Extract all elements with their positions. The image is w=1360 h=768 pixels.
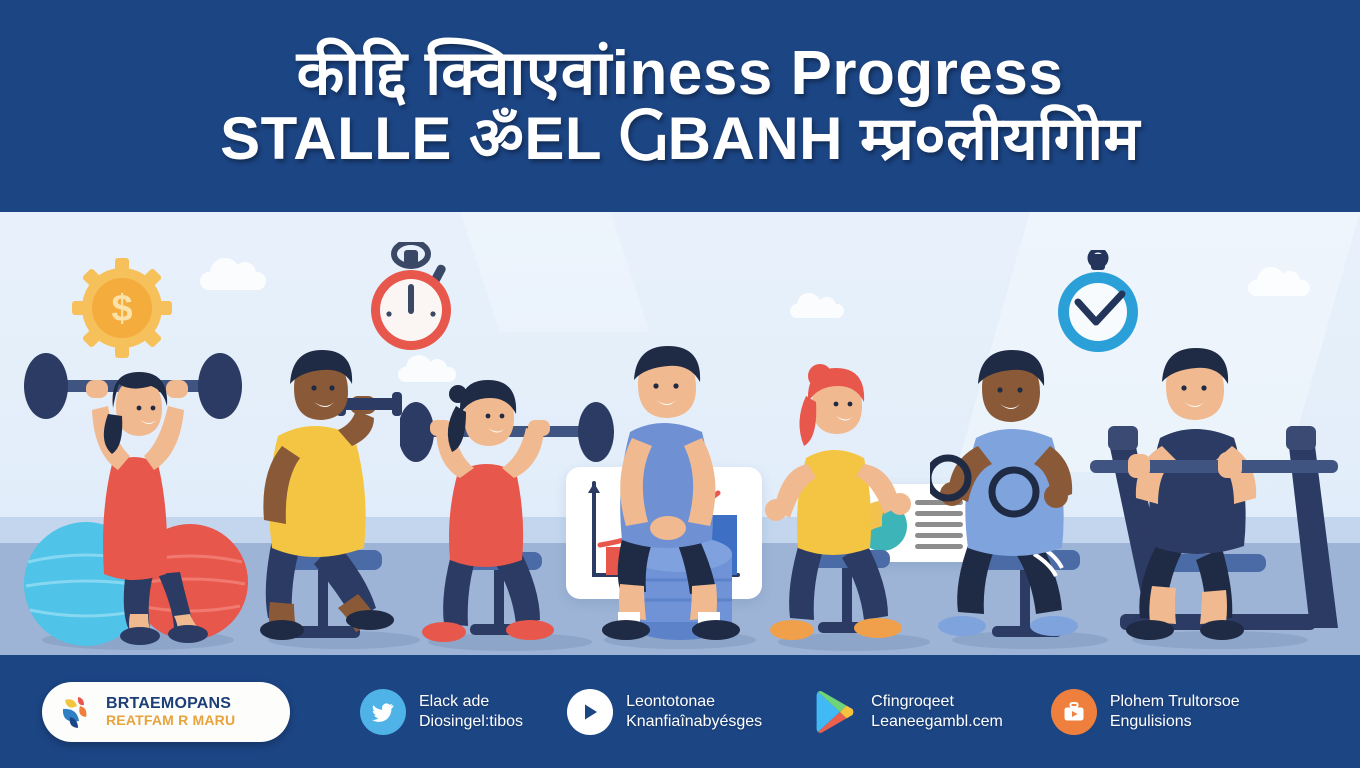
video-play-link-line-2: Knanfiaînabyésges: [626, 712, 762, 732]
app-store-link-line-2: Engulisions: [1110, 712, 1240, 732]
app-store-link[interactable]: Plohem Trultorsoe Engulisions: [1051, 689, 1240, 735]
twitter-bird-icon: [360, 689, 406, 735]
cloud-icon: [1248, 280, 1310, 296]
page-title-line-2: STALLE ॐEL ႺBANH म्प्र०लीयगोिम: [220, 108, 1140, 170]
brand-badge[interactable]: BRTAEMOPANS REATFAM R MARU: [42, 682, 290, 742]
twitter-link-line-1: Elack ade: [419, 692, 523, 712]
google-play-link[interactable]: Cfingroqeet Leaneegambl.cem: [812, 689, 1003, 735]
brand-badge-line-2: REATFAM R MARU: [106, 713, 235, 729]
video-play-link-line-1: Leontotonae: [626, 692, 762, 712]
cloud-icon: [790, 304, 844, 318]
gear-dollar-icon: $: [68, 254, 176, 362]
app-store-link-line-1: Plohem Trultorsoe: [1110, 692, 1240, 712]
barbell-bar: [1090, 460, 1338, 473]
orange-briefcase-icon: [1051, 689, 1097, 735]
svg-text:$: $: [111, 288, 132, 330]
header-banner: कीद्दि क्विाएवांiness Progress STALLE ॐE…: [0, 0, 1360, 212]
cloud-icon: [200, 272, 266, 290]
twitter-link[interactable]: Elack ade Diosingel:tibos: [360, 689, 523, 735]
brand-logo-icon: [56, 692, 96, 732]
footer-bar: BRTAEMOPANS REATFAM R MARU Elack ade Dio…: [0, 655, 1360, 768]
google-play-link-line-1: Cfingroqeet: [871, 692, 1003, 712]
stopwatch-icon: [356, 242, 466, 357]
person-man-blue-tank-ball: [580, 342, 780, 652]
illustration-scene: $: [0, 212, 1360, 655]
page-title-line-1: कीद्दि क्विाएवांiness Progress: [297, 42, 1064, 106]
person-man-squat-rack: [1090, 342, 1340, 652]
twitter-link-line-2: Diosingel:tibos: [419, 712, 523, 732]
google-play-icon: [812, 689, 858, 735]
person-woman-barbell-overhead: [8, 352, 260, 652]
play-circle-icon: [567, 689, 613, 735]
poster-root: कीद्दि क्विाएवांiness Progress STALLE ॐE…: [0, 0, 1360, 768]
brand-badge-line-1: BRTAEMOPANS: [106, 695, 235, 713]
video-play-link[interactable]: Leontotonae Knanfiaînabyésges: [567, 689, 762, 735]
google-play-link-line-2: Leaneegambl.cem: [871, 712, 1003, 732]
wall-accent-center: [461, 212, 650, 332]
person-woman-yellow-tank-stretch: [758, 352, 954, 652]
